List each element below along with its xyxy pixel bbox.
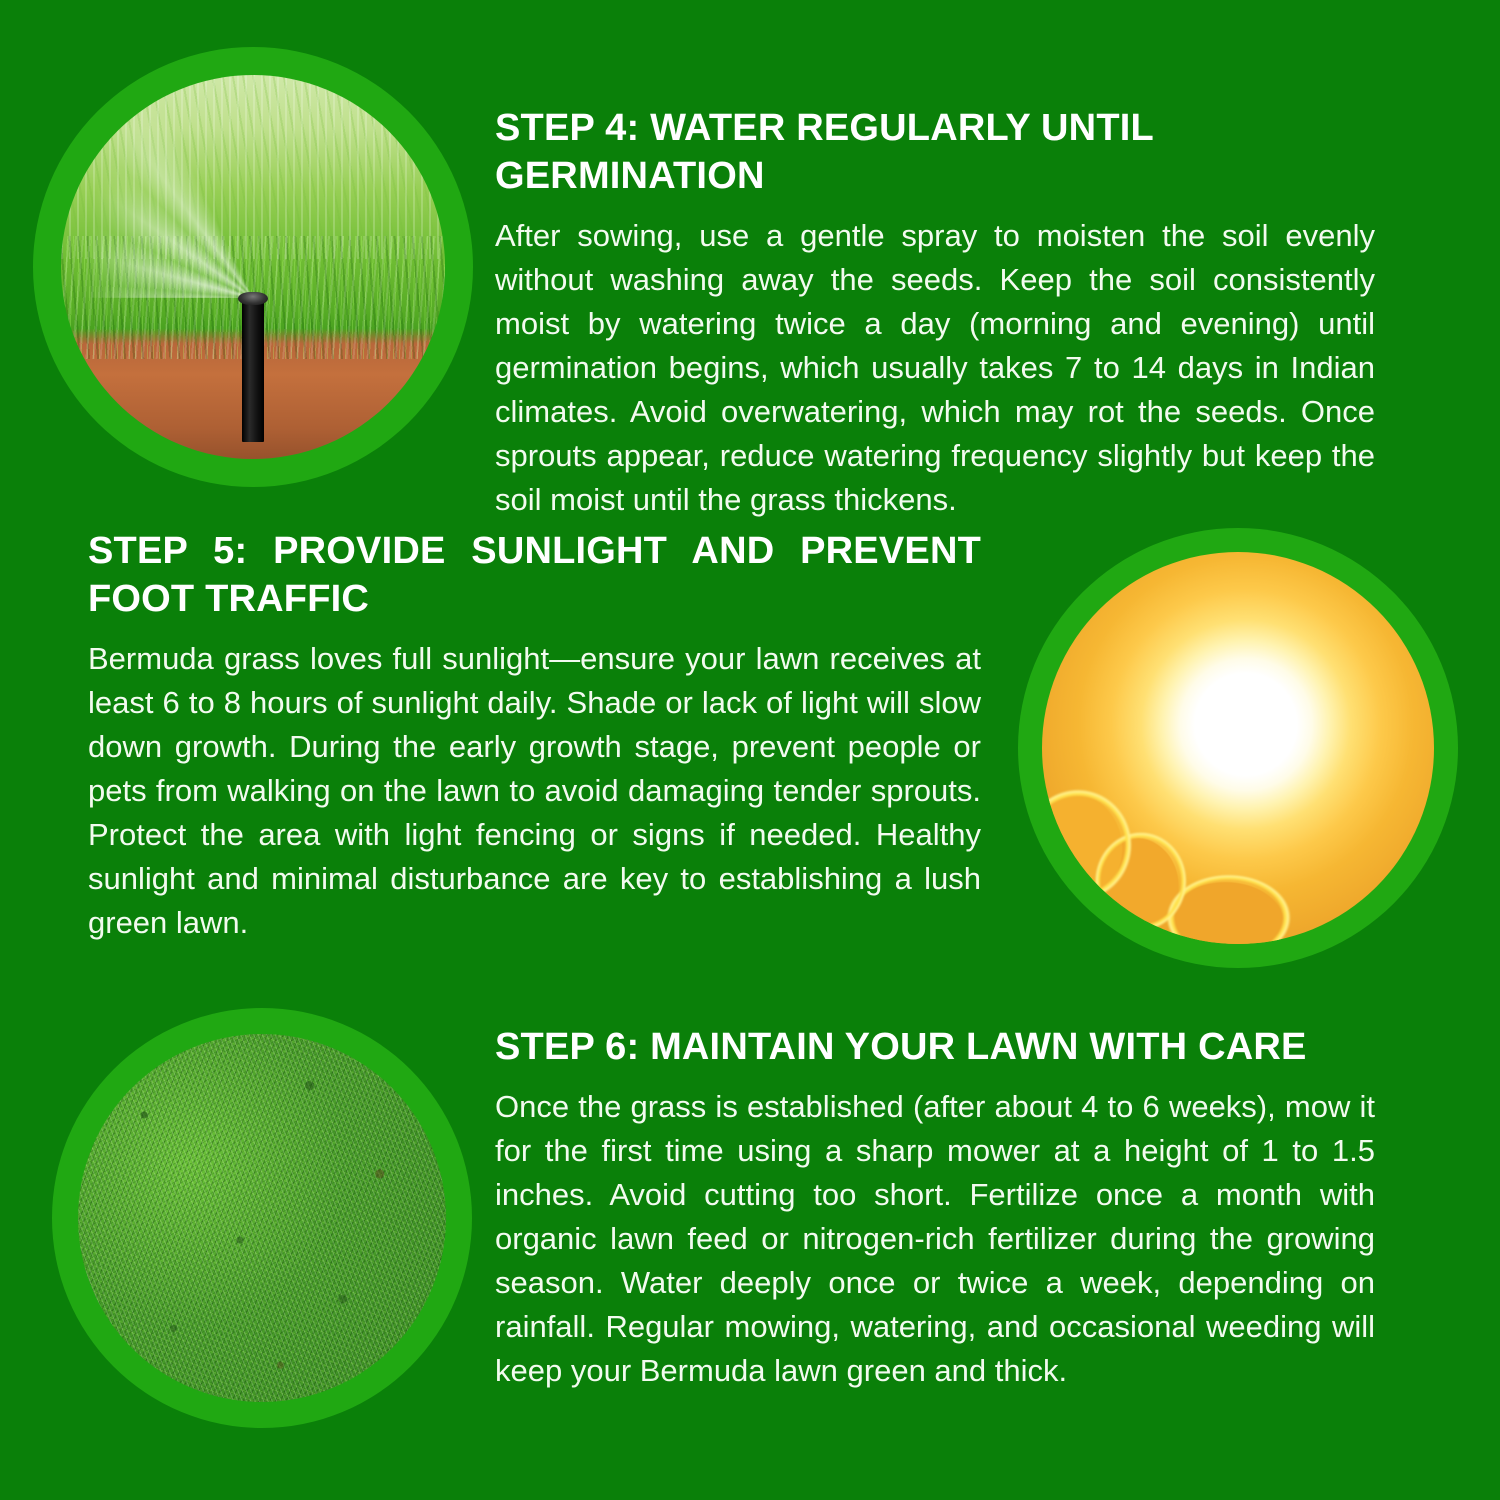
sprinkler-nozzle-icon: [238, 292, 268, 305]
step5-image-circle: [1018, 528, 1458, 968]
sun-photo: [1042, 552, 1434, 944]
step4-image-circle: [33, 47, 473, 487]
step5-text-block: STEP 5: PROVIDE SUNLIGHT AND PREVENT FOO…: [88, 527, 981, 945]
step5-body: Bermuda grass loves full sunlight—ensure…: [88, 637, 981, 945]
sun-cloud-rim: [1042, 779, 1348, 944]
water-spray-fan: [88, 75, 418, 298]
grass-speckle-overlay: [78, 1034, 446, 1402]
step4-heading: STEP 4: WATER REGULARLY UNTIL GERMINATIO…: [495, 104, 1375, 200]
step4-body: After sowing, use a gentle spray to mois…: [495, 214, 1375, 522]
step5-heading: STEP 5: PROVIDE SUNLIGHT AND PREVENT FOO…: [88, 527, 981, 623]
step4-text-block: STEP 4: WATER REGULARLY UNTIL GERMINATIO…: [495, 104, 1375, 522]
step6-body: Once the grass is established (after abo…: [495, 1085, 1375, 1393]
sprinkler-photo: [61, 75, 445, 459]
step6-image-circle: [52, 1008, 472, 1428]
infographic-page: STEP 4: WATER REGULARLY UNTIL GERMINATIO…: [0, 0, 1500, 1500]
grass-photo: [78, 1034, 446, 1402]
step6-text-block: STEP 6: MAINTAIN YOUR LAWN WITH CARE Onc…: [495, 1023, 1375, 1393]
sprinkler-head-icon: [242, 296, 264, 442]
step6-heading: STEP 6: MAINTAIN YOUR LAWN WITH CARE: [495, 1023, 1375, 1071]
